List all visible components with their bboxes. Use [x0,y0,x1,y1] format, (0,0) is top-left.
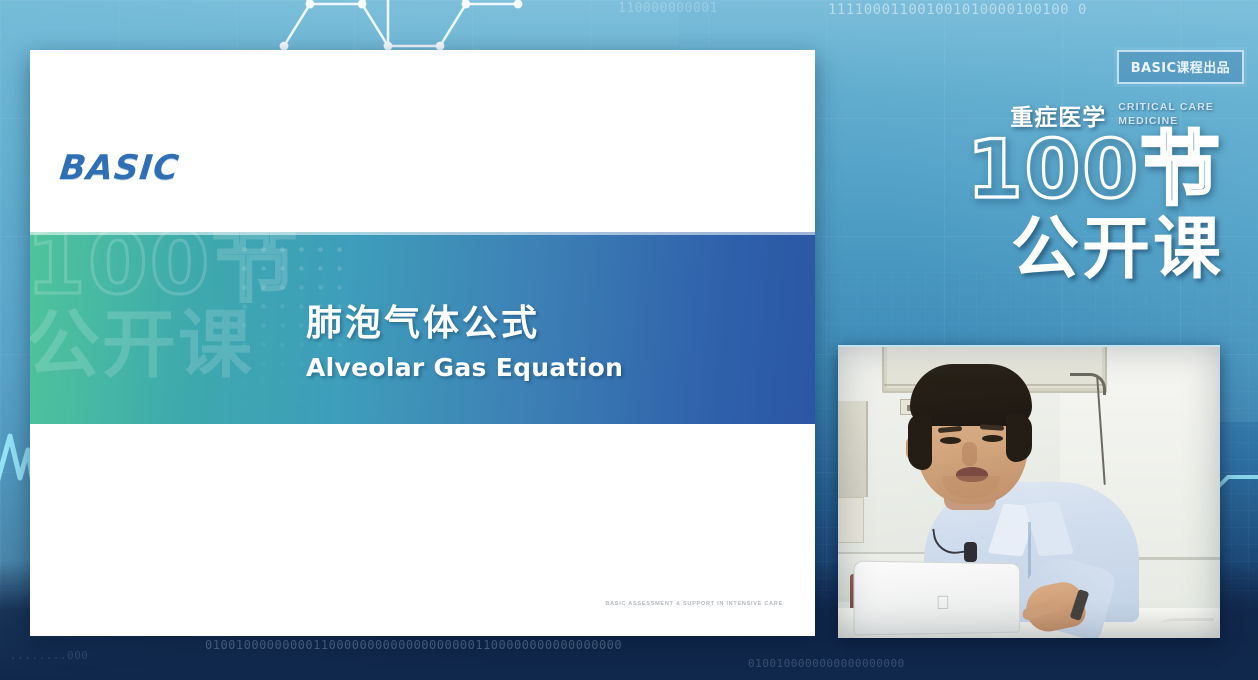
presenter-eye-left [940,437,961,444]
lapel-mic [964,542,977,562]
slide-title-band: 100节 公开课 肺泡气体公式 Alveolar Gas Equation [30,232,815,424]
binary-text-top-right: 111100011001001010000100100 0 [828,2,1258,18]
presenter-nose [962,442,977,466]
shirt-collar-right [1024,502,1074,556]
slide-title-group: 肺泡气体公式 Alveolar Gas Equation [306,294,623,382]
slide-basic-logo: BASIC [58,148,182,188]
presenter-hair-side-left [908,414,932,470]
slide-footer-text: BASIC ASSESSMENT & SUPPORT IN INTENSIVE … [605,601,783,607]
presentation-slide: BASIC 100节 公开课 肺泡气体公式 Alveolar Gas Equat… [30,50,815,636]
slide-title-cn: 肺泡气体公式 [306,294,623,346]
desk-cable [1160,618,1214,632]
presenter-video-panel[interactable]:  [838,345,1220,638]
binary-text-bottom-3: 0100100000000000000000 [748,657,1168,670]
brand-headline-text: 公开课 [1011,216,1224,284]
brand-badge: BASIC课程出品 [1117,50,1244,84]
presenter-eye-right [982,435,1003,442]
brand-subtitle-en-line1: CRITICAL CARE [1118,100,1214,114]
video-player-stage: 110000000001 111100011001001010000100100… [0,0,1258,680]
presenter-hair-side-right [1006,414,1032,462]
wall-mount-arm-curve [1070,373,1106,395]
apple-logo-icon:  [933,593,953,615]
brand-headline-number: 100节 [967,133,1222,207]
wall-left-panel [838,401,868,497]
slide-title-en: Alveolar Gas Equation [306,353,623,382]
band-top-rule [30,232,815,235]
laptop:  [853,561,1020,636]
binary-text-bottom-dots: ........000 [10,649,220,662]
binary-text-bottom-2: 0100100000000011000000000000000000011000… [205,638,965,652]
wall-left-panel-lower [838,497,864,543]
